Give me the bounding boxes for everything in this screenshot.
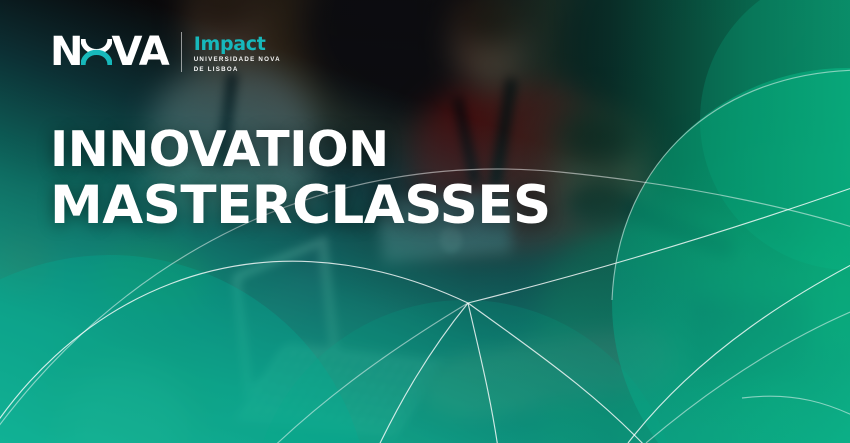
arc-line-1 <box>0 261 468 443</box>
arc-line-11 <box>612 70 850 300</box>
impact-lockup: Impact UNIVERSIDADE NOVA DE LISBOA <box>194 32 281 75</box>
arc-line-5 <box>468 303 500 443</box>
arc-line-6 <box>468 303 660 443</box>
arc-line-8 <box>628 250 850 443</box>
nova-letters-va: VA <box>111 32 168 72</box>
innovation-masterclasses-banner: N VA Impact UNIVERSIDADE NOVA DE LISBOA … <box>0 0 850 443</box>
nova-arch-mark-icon <box>81 37 112 67</box>
nova-wordmark: N VA <box>50 32 169 72</box>
nova-impact-logo[interactable]: N VA Impact UNIVERSIDADE NOVA DE LISBOA <box>50 32 281 75</box>
arc-line-7 <box>258 303 468 443</box>
headline-line-1: INNOVATION <box>50 126 551 174</box>
nova-letter-n: N <box>50 32 82 72</box>
impact-wordmark: Impact <box>194 34 281 54</box>
page-title: INNOVATION MASTERCLASSES <box>50 126 551 232</box>
logo-divider <box>181 32 182 72</box>
arc-line-10 <box>742 396 850 430</box>
university-name-line2: DE LISBOA <box>194 66 281 74</box>
headline-line-2: MASTERCLASSES <box>50 180 551 232</box>
university-name-line1: UNIVERSIDADE NOVA <box>194 56 281 64</box>
arc-line-4 <box>372 303 468 443</box>
arc-line-9 <box>646 300 850 443</box>
